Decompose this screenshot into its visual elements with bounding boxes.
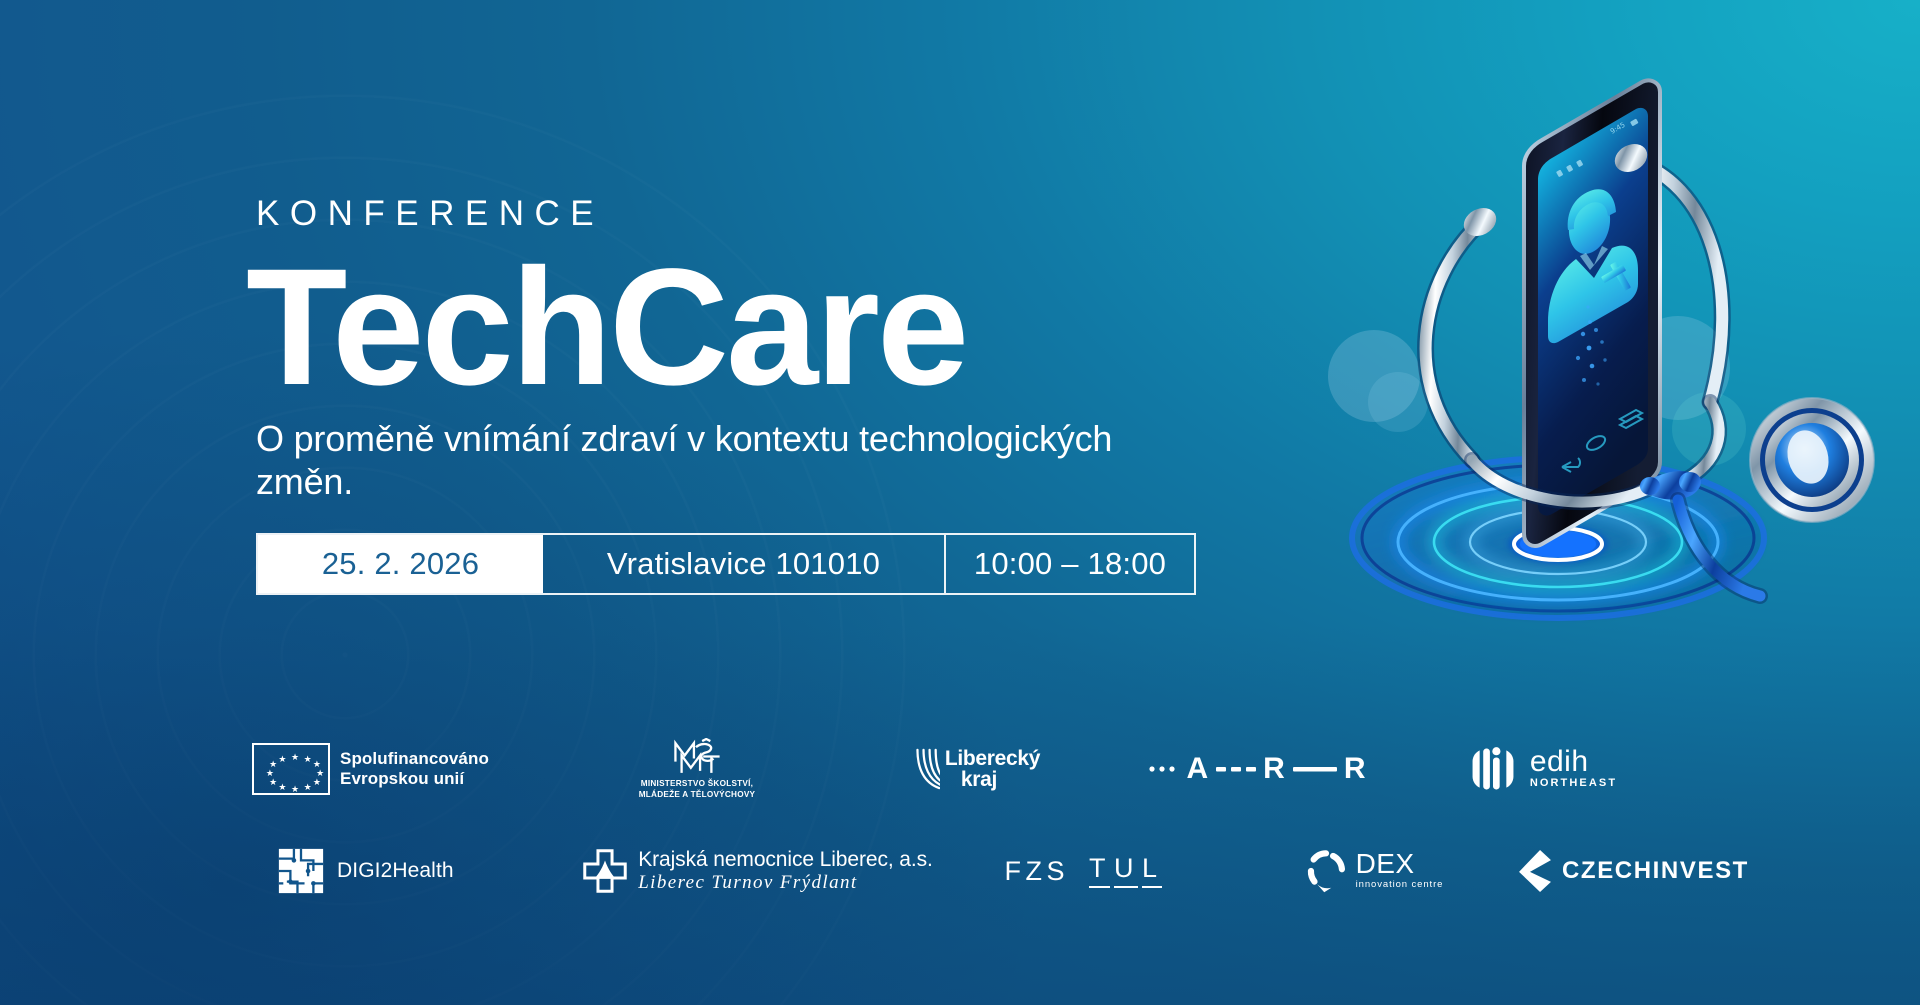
logo-eu-cofunded: ★ ★ ★ ★ ★ ★ ★ ★ ★ ★ ★ ★ Spolufinan — [252, 743, 489, 795]
logo-edih-northeast: edih NORTHEAST — [1467, 745, 1617, 793]
arr-long-dash-icon — [1291, 765, 1339, 773]
logo-liberecky-kraj: Liberecký kraj — [914, 746, 1040, 792]
logo-tul-text: TUL — [1089, 855, 1162, 888]
logo-edih-text: edih NORTHEAST — [1530, 748, 1617, 790]
dex-circle-icon — [1303, 848, 1349, 894]
liberecky-kraj-arcs-icon — [914, 746, 940, 792]
logo-czechinvest-text: CZECHINVEST — [1562, 857, 1749, 885]
logo-msmt-text: MINISTERSTVO ŠKOLSTVÍ, MLÁDEŽE A TĚLOVÝC… — [639, 779, 756, 800]
digi2health-circuit-icon — [278, 848, 324, 894]
logo-knl-text: Krajská nemocnice Liberec, a.s. Liberec … — [638, 848, 933, 894]
logo-dex-text: DEX innovation centre — [1356, 850, 1444, 891]
logo-czechinvest: CZECHINVEST — [1518, 850, 1749, 892]
page-title: TechCare — [246, 249, 1214, 407]
edih-bars-icon — [1467, 745, 1519, 793]
czechinvest-chevron-icon — [1518, 850, 1552, 892]
partner-logo-row: ★ ★ ★ ★ ★ ★ ★ ★ ★ ★ ★ ★ Spolufinan — [252, 718, 1682, 820]
logo-krajska-nemocnice-liberec: Krajská nemocnice Liberec, a.s. Liberec … — [583, 848, 933, 894]
medical-cross-icon — [583, 849, 627, 893]
msmt-monogram-icon — [666, 738, 728, 776]
partner-logos: ★ ★ ★ ★ ★ ★ ★ ★ ★ ★ ★ ★ Spolufinan — [252, 718, 1682, 922]
logo-fzs-text: FZS — [1004, 856, 1069, 887]
arr-dots-icon — [1147, 764, 1181, 774]
kicker-label: KONFERENCE — [256, 196, 1214, 231]
eu-flag-icon: ★ ★ ★ ★ ★ ★ ★ ★ ★ ★ ★ ★ — [252, 743, 330, 795]
logo-msmt: MINISTERSTVO ŠKOLSTVÍ, MLÁDEŽE A TĚLOVÝC… — [639, 738, 756, 800]
logo-digi2health-text: DIGI2Health — [337, 859, 454, 883]
event-time: 10:00 – 18:00 — [946, 535, 1194, 593]
logo-digi2health: DIGI2Health — [278, 848, 454, 894]
subtitle: O proměně vnímání zdraví v kontextu tech… — [256, 417, 1214, 503]
logo-arr: A R R — [1147, 752, 1366, 786]
logo-eu-text: Spolufinancováno Evropskou unií — [340, 749, 489, 790]
logo-liberecky-kraj-text: Liberecký kraj — [945, 748, 1040, 790]
logo-arr-letter-r2: R — [1344, 752, 1367, 786]
event-info-bar: 25. 2. 2026 Vratislavice 101010 10:00 – … — [256, 533, 1196, 595]
logo-arr-letter-r1: R — [1263, 752, 1286, 786]
conference-banner: 9:45 — [0, 0, 1920, 1005]
logo-dex-innovation-centre: DEX innovation centre — [1303, 848, 1444, 894]
logo-fzs-tul: FZS TUL — [1004, 855, 1161, 888]
event-date: 25. 2. 2026 — [258, 535, 543, 593]
logo-arr-letter-a: A — [1186, 752, 1209, 786]
partner-logo-row: DIGI2Health Krajská nemocnice Liberec, a… — [252, 820, 1682, 922]
event-place: Vratislavice 101010 — [543, 535, 946, 593]
arr-short-dashes-icon — [1214, 765, 1258, 773]
headline-block: KONFERENCE TechCare O proměně vnímání zd… — [254, 196, 1214, 595]
